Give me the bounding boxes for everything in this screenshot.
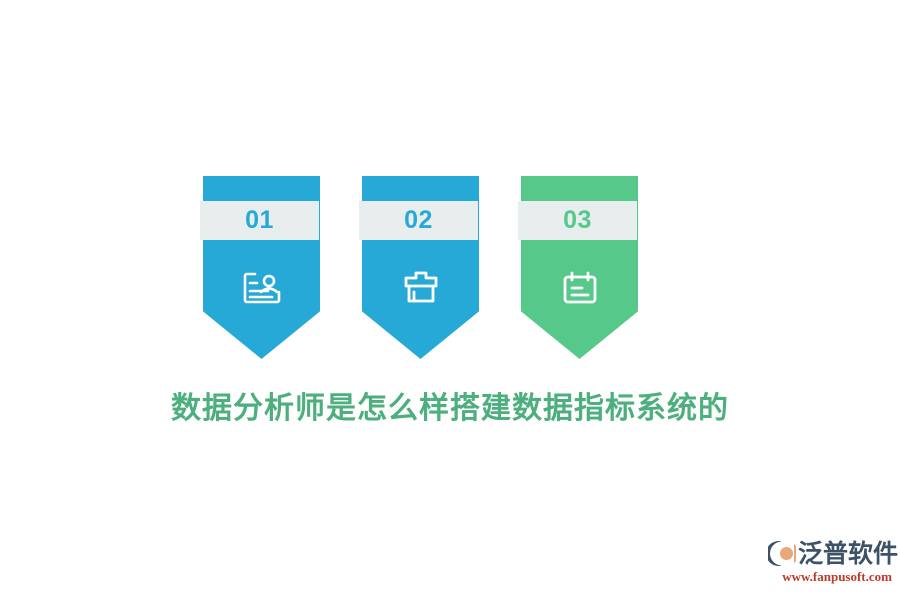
- brand-watermark: 泛普软件 www.fanpusoft.com: [768, 538, 892, 588]
- logo-row: 泛普软件: [768, 538, 892, 568]
- infographic-canvas: 01 02: [0, 0, 900, 600]
- banner-item-01[interactable]: 01: [203, 176, 320, 359]
- brand-url: www.fanpusoft.com: [768, 569, 892, 585]
- banner-number-band: 02: [359, 201, 478, 240]
- fanpu-c-mark-icon: [768, 540, 796, 567]
- store-shop-icon: [362, 260, 479, 316]
- id-card-person-icon: [203, 260, 320, 316]
- brand-name: 泛普软件: [798, 540, 898, 567]
- banner-item-02[interactable]: 02: [362, 176, 479, 359]
- banner-item-03[interactable]: 03: [521, 176, 638, 359]
- banner-number-band: 01: [200, 201, 319, 240]
- calendar-notes-icon: [521, 260, 638, 316]
- banner-number-01: 01: [245, 208, 274, 233]
- banner-number-02: 02: [404, 208, 433, 233]
- banner-number-band: 03: [518, 201, 637, 240]
- banner-number-03: 03: [563, 208, 592, 233]
- banner-group: 01 02: [0, 176, 900, 366]
- page-title: 数据分析师是怎么样搭建数据指标系统的: [0, 383, 900, 427]
